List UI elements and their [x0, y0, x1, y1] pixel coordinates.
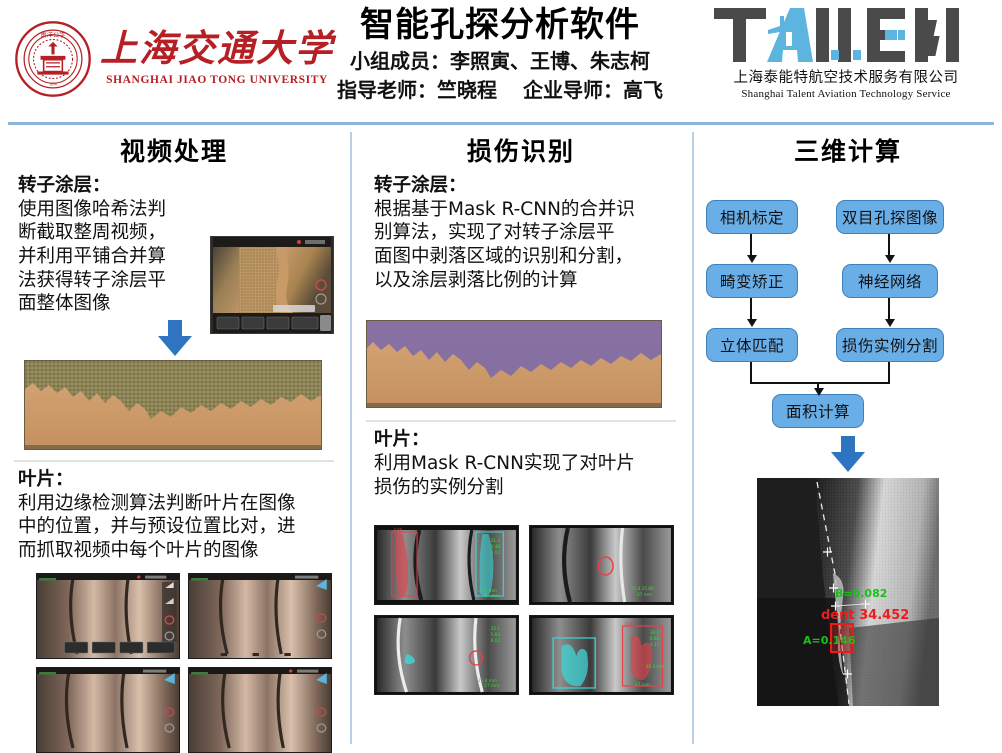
- svg-text:4.02: 4.02: [491, 550, 501, 555]
- damage-seg-2: 21.4 25.8827 mm: [529, 525, 674, 605]
- damage-seg-4: 36.26.884.12 38.4 mm27 mm tear: [529, 615, 674, 695]
- sjtu-name-en: SHANGHAI JIAO TONG UNIVERSITY: [106, 74, 328, 86]
- c2-section-rotor: 转子涂层： 根据基于Mask R-CNN的合并识 别算法，实现了对转子涂层平 面…: [352, 168, 690, 292]
- measure-label-a: A=0.146: [803, 634, 856, 647]
- rotor-coating-panorama: [24, 360, 322, 450]
- flow-node-camera-calibration[interactable]: 相机标定: [706, 200, 798, 234]
- c1-rotor-text: 使用图像哈希法判 断截取整周视频， 并利用平铺合并算 法获得转子涂层平 面整体图…: [18, 198, 216, 316]
- flow-node-binocular-borescope-image[interactable]: 双目孔探图像: [836, 200, 944, 234]
- column-3-title: 三维计算: [694, 128, 1002, 168]
- c1-section-blade: 叶片： 利用边缘检测算法判断叶片在图像 中的位置，并与预设位置比对，进 而抓取视…: [0, 462, 348, 563]
- c1-rotor-label: 转子涂层：: [18, 174, 340, 198]
- poster-page: 南洋公学 1896 上海交通大学 SHANGHAI JIAO TONG UNIV…: [0, 0, 1002, 749]
- svg-text:27 mm: 27 mm: [637, 592, 652, 597]
- sjtu-wordmark: 上海交通大学 SHANGHAI JIAO TONG UNIVERSITY: [100, 31, 334, 86]
- down-arrow-icon-3d: [831, 436, 865, 472]
- flow-node-stereo-matching[interactable]: 立体匹配: [706, 328, 798, 362]
- blade-shot-4: [188, 667, 332, 753]
- c2-blade-text: 利用Mask R-CNN实现了对叶片 损伤的实例分割: [374, 452, 682, 499]
- poster-header: 南洋公学 1896 上海交通大学 SHANGHAI JIAO TONG UNIV…: [0, 0, 1002, 123]
- svg-text:27 mm: 27 mm: [635, 682, 650, 687]
- talent-company-en: Shanghai Talent Aviation Technology Serv…: [741, 88, 950, 100]
- c2-rotor-text: 根据基于Mask R-CNN的合并识 别算法，实现了对转子涂层平 面图中剥落区域…: [374, 198, 684, 293]
- svg-text:南洋公学: 南洋公学: [41, 31, 66, 39]
- flow-node-distortion-correction[interactable]: 畸变矫正: [706, 264, 798, 298]
- svg-text:1896: 1896: [49, 82, 57, 86]
- c1-blade-image-grid: [36, 573, 332, 753]
- endoscope-screenshot: [210, 236, 334, 334]
- svg-text:38.4 mm: 38.4 mm: [646, 664, 665, 669]
- svg-text:32.1: 32.1: [491, 626, 501, 631]
- c2-rotor-label: 转子涂层：: [374, 174, 684, 198]
- header-divider: [8, 122, 994, 125]
- svg-text:5.64: 5.64: [491, 632, 501, 637]
- svg-text:31.2: 31.2: [491, 538, 501, 543]
- flow-edge-5: [750, 362, 752, 384]
- flow-edge-merge: [750, 382, 890, 384]
- advisor-row: 指导老师：竺晓程 企业导师：高飞: [300, 76, 700, 105]
- flow-edge-3: [888, 234, 890, 256]
- svg-text:6.48: 6.48: [491, 544, 501, 549]
- flow-edge-2: [750, 298, 752, 320]
- svg-text:36.2: 36.2: [650, 630, 660, 635]
- column-damage-recognition: 损伤识别 转子涂层： 根据基于Mask R-CNN的合并识 别算法，实现了对转子…: [352, 128, 690, 746]
- talent-company-cn: 上海泰能特航空技术服务有限公司: [734, 66, 959, 87]
- flowchart: 相机标定 双目孔探图像 畸变矫正 神经网络 立体匹配 损伤实例分割 面积计算: [694, 172, 1002, 434]
- svg-text:21.4 25.88: 21.4 25.88: [631, 586, 654, 591]
- blade-dent-measurement: B=0.082 dent 34.452 A=0.146: [757, 478, 939, 706]
- svg-text:8.02: 8.02: [491, 638, 501, 643]
- flow-arrow-2: [747, 319, 757, 327]
- blade-shot-3: [36, 667, 180, 753]
- damage-seg-1: 31.26.484.02 21.2 mm27 mm nick: [374, 525, 519, 605]
- c2-blade-label: 叶片：: [374, 428, 682, 452]
- c1-blade-text: 利用边缘检测算法判断叶片在图像 中的位置，并与预设位置比对，进 而抓取视频中每个…: [18, 492, 338, 563]
- c2-section-blade: 叶片： 利用Mask R-CNN实现了对叶片 损伤的实例分割: [352, 422, 690, 499]
- c1-section-rotor: 转子涂层： 使用图像哈希法判 断截取整周视频， 并利用平铺合并算 法获得转子涂层…: [0, 174, 348, 356]
- flow-node-neural-network[interactable]: 神经网络: [842, 264, 938, 298]
- talent-logo: 上海泰能特航空技术服务有限公司 Shanghai Talent Aviation…: [702, 6, 990, 116]
- rotor-coating-segmentation: [366, 320, 662, 408]
- c1-blade-label: 叶片：: [18, 468, 338, 492]
- measure-label-dent: dent 34.452: [821, 608, 909, 623]
- column-2-title: 损伤识别: [352, 128, 690, 168]
- svg-text:27 mm: 27 mm: [484, 593, 499, 598]
- svg-text:tear: tear: [625, 621, 634, 626]
- talent-wordmark-icon: [712, 6, 980, 64]
- svg-text:nick: nick: [394, 527, 403, 532]
- column-1-title: 视频处理: [0, 128, 348, 168]
- svg-text:6.88: 6.88: [650, 636, 660, 641]
- column-3d-computation: 三维计算 相机标定 双目孔探图像 畸变矫正 神经网络 立体匹配 损伤实例分割 面…: [694, 128, 1002, 746]
- svg-text:4.12: 4.12: [650, 642, 660, 647]
- damage-seg-3: 32.15.648.02 21.4 mm27 mm: [374, 615, 519, 695]
- measure-label-b: B=0.082: [835, 587, 887, 600]
- advisor-label: 指导老师：竺晓程: [337, 76, 497, 105]
- column-video-processing: 视频处理 转子涂层： 使用图像哈希法判 断截取整周视频， 并利用平铺合并算 法获…: [0, 128, 348, 746]
- sjtu-seal-icon: 南洋公学 1896: [14, 20, 92, 98]
- flow-arrow-1: [747, 255, 757, 263]
- flow-arrow-4: [885, 319, 895, 327]
- flow-edge-6: [888, 362, 890, 384]
- down-arrow-icon: [158, 320, 192, 356]
- sjtu-logo: 南洋公学 1896 上海交通大学 SHANGHAI JIAO TONG UNIV…: [14, 6, 304, 111]
- flow-edge-4: [888, 298, 890, 320]
- enterprise-mentor-label: 企业导师：高飞: [523, 76, 663, 105]
- flow-edge-1: [750, 234, 752, 256]
- flow-arrow-5: [814, 388, 824, 396]
- title-block: 智能孔探分析软件 小组成员：李照寅、王博、朱志柯 指导老师：竺晓程 企业导师：高…: [300, 4, 700, 105]
- sjtu-name-cn: 上海交通大学: [100, 31, 334, 68]
- c2-damage-image-grid: 31.26.484.02 21.2 mm27 mm nick 21.4 25.8…: [374, 525, 674, 695]
- flow-node-area-calculation[interactable]: 面积计算: [772, 394, 864, 428]
- blade-shot-2: [188, 573, 332, 659]
- svg-text:27 mm: 27 mm: [484, 683, 499, 688]
- team-members: 小组成员：李照寅、王博、朱志柯: [300, 47, 700, 76]
- flow-node-damage-instance-segmentation[interactable]: 损伤实例分割: [836, 328, 944, 362]
- blade-shot-1: [36, 573, 180, 659]
- flow-arrow-3: [885, 255, 895, 263]
- page-title: 智能孔探分析软件: [300, 4, 700, 47]
